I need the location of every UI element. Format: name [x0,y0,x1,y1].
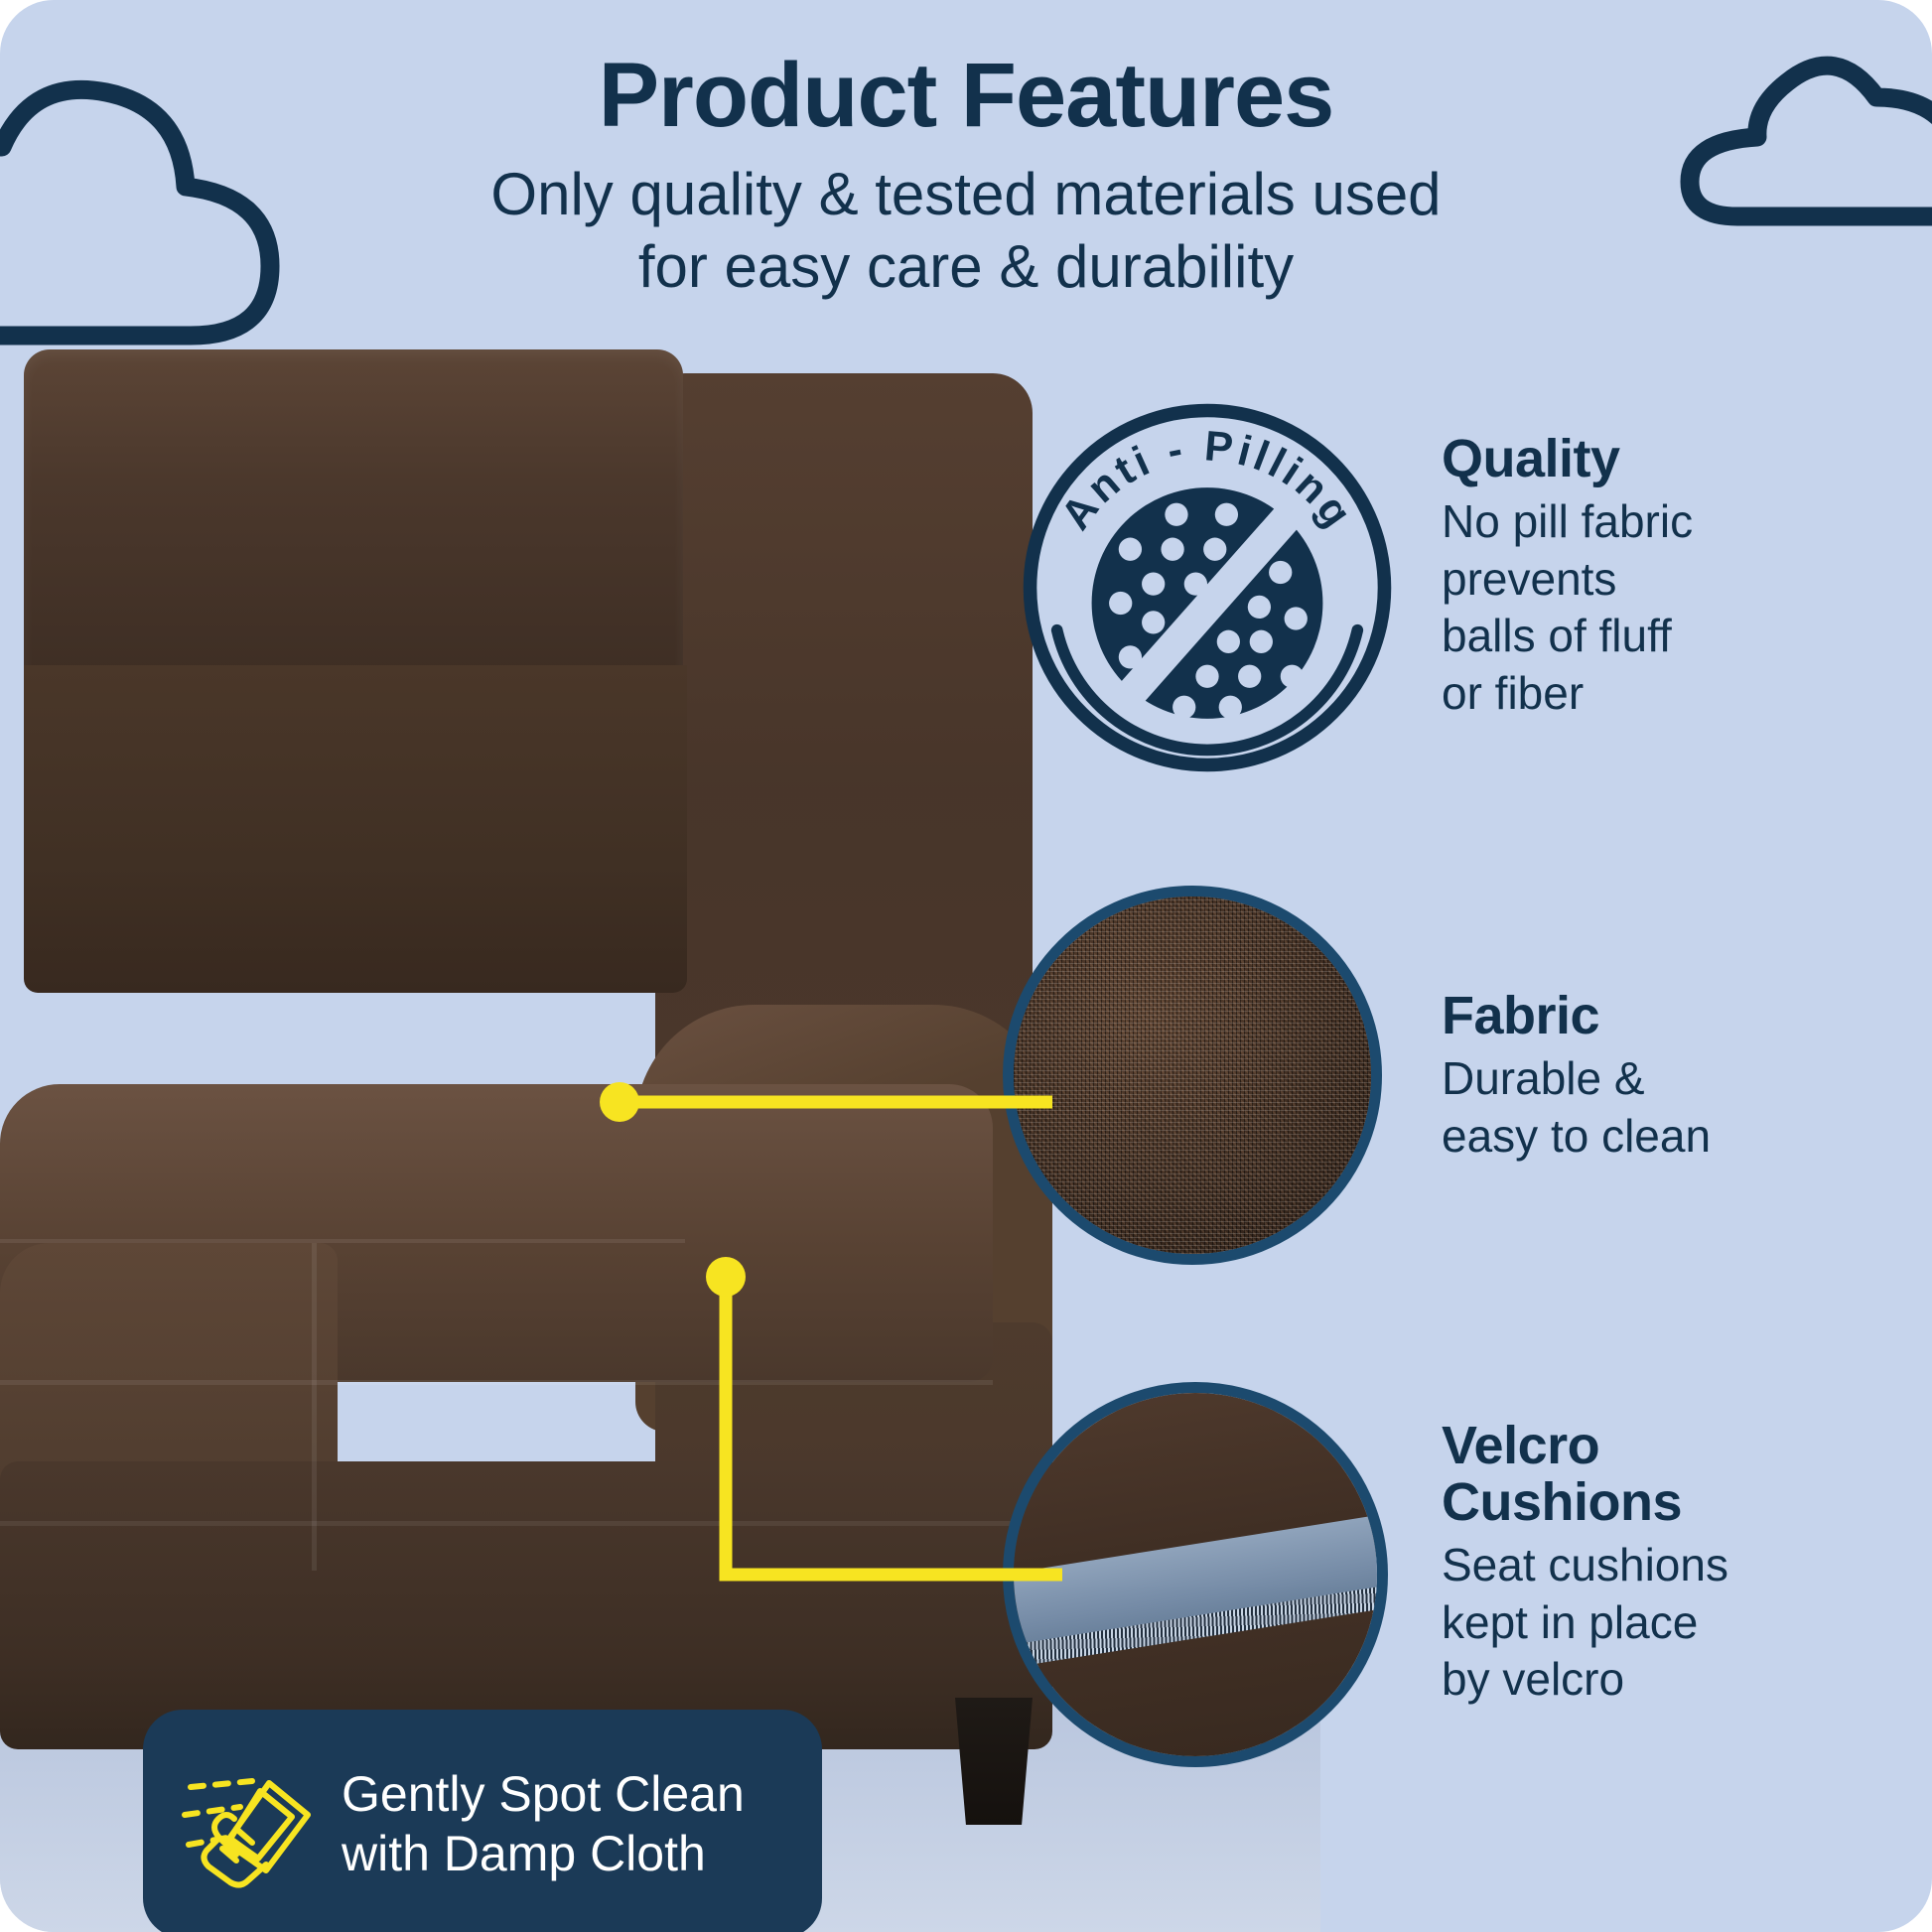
feature-body-line: No pill fabric [1442,495,1693,547]
banner-line-1: Gently Spot Clean [342,1766,745,1822]
feature-heading-line: Velcro [1442,1416,1599,1475]
feature-heading: Quality [1442,431,1859,487]
feature-body-line: or fiber [1442,667,1584,719]
banner-line-2: with Damp Cloth [342,1826,706,1881]
feature-body-line: balls of fluff [1442,610,1672,661]
feature-velcro-cushions: Velcro Cushions Seat cushions kept in pl… [1442,1418,1859,1709]
banner-text: Gently Spot Clean with Damp Cloth [342,1764,745,1883]
feature-fabric: Fabric Durable & easy to clean [1442,988,1859,1165]
feature-quality: Quality No pill fabric prevents balls of… [1442,431,1859,722]
hand-wiping-cloth-icon [175,1747,324,1901]
feature-body-line: Seat cushions [1442,1539,1728,1590]
feature-body-line: easy to clean [1442,1110,1711,1162]
feature-body-line: kept in place [1442,1596,1698,1648]
feature-body-line: by velcro [1442,1653,1624,1705]
feature-body-line: Durable & [1442,1052,1645,1104]
feature-body-line: prevents [1442,553,1616,605]
feature-body: No pill fabric prevents balls of fluff o… [1442,493,1859,722]
feature-body: Seat cushions kept in place by velcro [1442,1537,1859,1709]
feature-body: Durable & easy to clean [1442,1050,1859,1165]
care-instruction-banner: Gently Spot Clean with Damp Cloth [143,1710,822,1932]
feature-heading-line: Cushions [1442,1472,1682,1532]
feature-heading: Fabric [1442,988,1859,1044]
infographic-card: Product Features Only quality & tested m… [0,0,1932,1932]
feature-heading: Velcro Cushions [1442,1418,1859,1531]
